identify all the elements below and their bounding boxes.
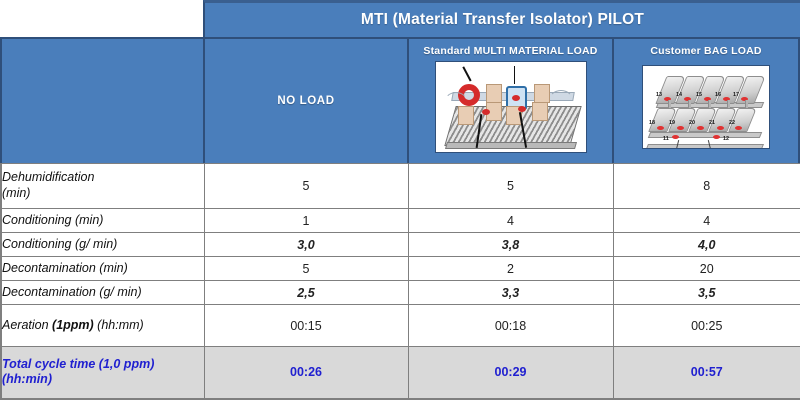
bag-number-label: 22 <box>729 120 735 126</box>
title-band: MTI (Material Transfer Isolator) PILOT <box>203 0 800 37</box>
material-box <box>486 84 502 103</box>
cell-decontamination-min-no-load: 5 <box>204 257 408 281</box>
header-cell-multi-material-load: Standard MULTI MATERIAL LOAD <box>407 37 612 163</box>
row-label-decontamination-gmin: Decontamination (g/ min) <box>1 281 204 305</box>
cell-aeration-no-load: 00:15 <box>204 305 408 347</box>
bag-number-label: 20 <box>689 120 695 126</box>
table-row-total: Total cycle time (1,0 ppm) (hh:min) 00:2… <box>1 347 800 399</box>
bag-number-label: 15 <box>696 92 702 98</box>
header-cell-no-load: NO LOAD <box>203 37 407 163</box>
bag-number-label: 18 <box>649 120 655 126</box>
sensor-dot <box>657 126 664 130</box>
cell-dehumidification-bag-load: 8 <box>613 164 800 209</box>
table-header-row: NO LOAD Standard MULTI MATERIAL LOAD <box>0 37 800 163</box>
row-label-aeration-suffix: (hh:mm) <box>94 318 144 332</box>
cell-decontamination-min-multi-material: 2 <box>408 257 613 281</box>
total-label-line1: Total cycle time (1,0 ppm) <box>2 357 204 373</box>
multi-material-load-thumbnail <box>435 61 587 153</box>
total-label-line2: (hh:min) <box>2 372 204 388</box>
slide-table-page: MTI (Material Transfer Isolator) PILOT N… <box>0 0 800 412</box>
bag-number-label: 11 <box>663 136 669 142</box>
cell-conditioning-gmin-bag-load: 4,0 <box>613 233 800 257</box>
cell-conditioning-gmin-multi-material: 3,8 <box>408 233 613 257</box>
header-corner-cell <box>0 37 203 163</box>
bag-number-label: 14 <box>676 92 682 98</box>
table-row: Conditioning (min) 1 4 4 <box>1 209 800 233</box>
material-box <box>532 102 548 121</box>
sensor-dot <box>482 109 490 115</box>
cell-decontamination-min-bag-load: 20 <box>613 257 800 281</box>
row-label-decontamination-min: Decontamination (min) <box>1 257 204 281</box>
table-row: Aeration (1ppm) (hh:mm) 00:15 00:18 00:2… <box>1 305 800 347</box>
cell-conditioning-min-bag-load: 4 <box>613 209 800 233</box>
arrow-indicator-icon <box>514 66 516 84</box>
page-title: MTI (Material Transfer Isolator) PILOT <box>361 11 644 29</box>
cell-conditioning-min-no-load: 1 <box>204 209 408 233</box>
header-label-no-load: NO LOAD <box>277 95 334 107</box>
cell-decontamination-gmin-no-load: 2,5 <box>204 281 408 305</box>
header-label-multi-material-load: Standard MULTI MATERIAL LOAD <box>423 45 597 57</box>
cell-total-bag-load: 00:57 <box>613 347 800 399</box>
shelf-base-graphic <box>444 142 576 149</box>
header-cell-bag-load: Customer BAG LOAD 13 14 15 16 17 <box>612 37 800 163</box>
sensor-dot <box>713 135 720 139</box>
row-label-aeration-prefix: Aeration <box>2 318 52 332</box>
tubing-graphic <box>548 90 574 114</box>
cell-conditioning-min-multi-material: 4 <box>408 209 613 233</box>
table-row: Dehumidification (min) 5 5 8 <box>1 164 800 209</box>
cell-total-multi-material: 00:29 <box>408 347 613 399</box>
cell-decontamination-gmin-multi-material: 3,3 <box>408 281 613 305</box>
bag-number-label: 17 <box>733 92 739 98</box>
customer-bag-load-thumbnail: 13 14 15 16 17 <box>642 65 770 149</box>
sensor-dot <box>512 95 520 101</box>
cell-dehumidification-multi-material: 5 <box>408 164 613 209</box>
sensor-dot <box>697 126 704 130</box>
sensor-dot <box>717 126 724 130</box>
cell-decontamination-gmin-bag-load: 3,5 <box>613 281 800 305</box>
arrow-indicator-icon <box>462 67 471 82</box>
bag-number-label: 19 <box>669 120 675 126</box>
bag-number-label: 13 <box>656 92 662 98</box>
sensor-dot <box>672 135 679 139</box>
table-row: Conditioning (g/ min) 3,0 3,8 4,0 <box>1 233 800 257</box>
rack-rail <box>646 144 764 149</box>
row-label-line2: (min) <box>2 186 204 202</box>
cell-aeration-bag-load: 00:25 <box>613 305 800 347</box>
header-label-bag-load: Customer BAG LOAD <box>650 45 761 57</box>
cell-conditioning-gmin-no-load: 3,0 <box>204 233 408 257</box>
row-label-total-cycle-time: Total cycle time (1,0 ppm) (hh:min) <box>1 347 204 399</box>
cell-dehumidification-no-load: 5 <box>204 164 408 209</box>
row-label-conditioning-gmin: Conditioning (g/ min) <box>1 233 204 257</box>
cell-total-no-load: 00:26 <box>204 347 408 399</box>
row-label-dehumidification: Dehumidification (min) <box>1 164 204 209</box>
row-label-line1: Dehumidification <box>2 170 204 186</box>
row-label-aeration-bold: (1ppm) <box>52 318 94 332</box>
cycle-parameters-table: Dehumidification (min) 5 5 8 Conditionin… <box>0 163 800 400</box>
sensor-dot <box>518 106 526 112</box>
table-row: Decontamination (min) 5 2 20 <box>1 257 800 281</box>
row-label-conditioning-min: Conditioning (min) <box>1 209 204 233</box>
sensor-dot <box>677 126 684 130</box>
tubing-graphic <box>444 92 468 114</box>
sensor-dot <box>735 126 742 130</box>
cell-aeration-multi-material: 00:18 <box>408 305 613 347</box>
table-row: Decontamination (g/ min) 2,5 3,3 3,5 <box>1 281 800 305</box>
row-label-aeration: Aeration (1ppm) (hh:mm) <box>1 305 204 347</box>
bag-number-label: 16 <box>715 92 721 98</box>
bag-number-label: 21 <box>709 120 715 126</box>
bag-number-label: 12 <box>723 136 729 142</box>
